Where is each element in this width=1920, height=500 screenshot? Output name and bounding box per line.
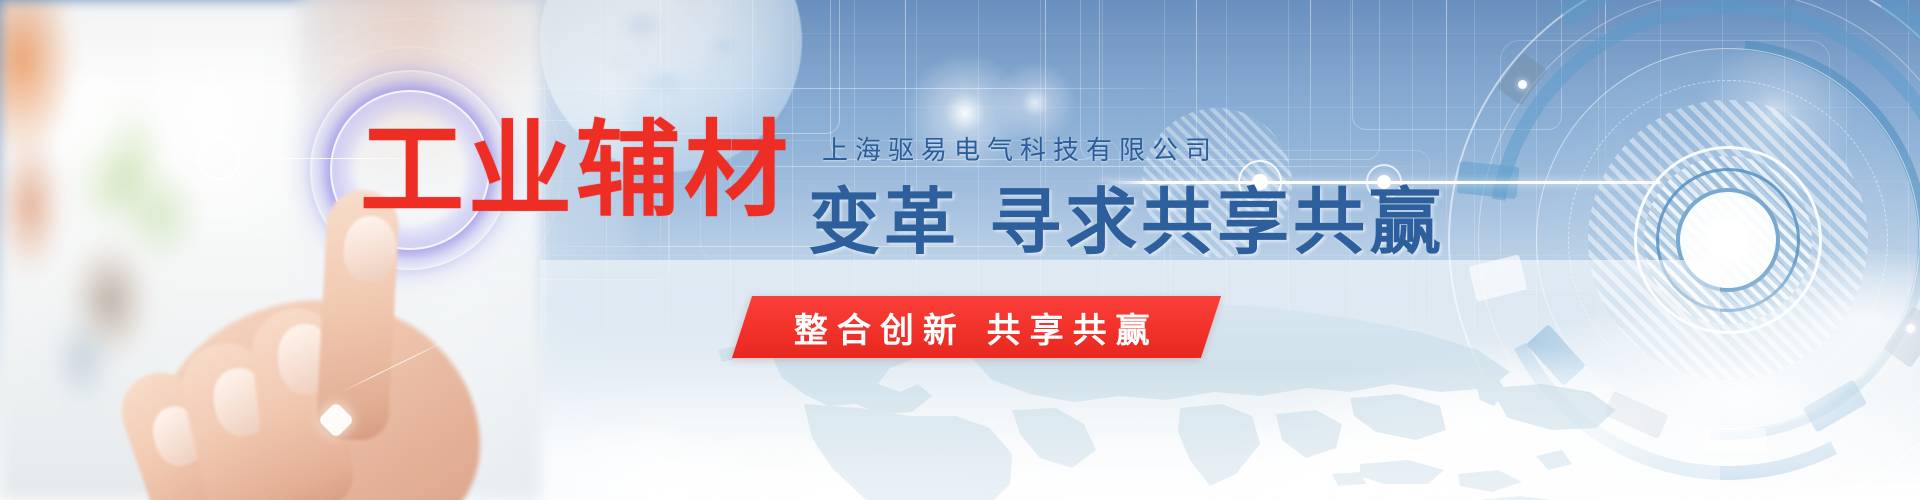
hero-banner: 工业辅材 上海驱易电气科技有限公司 变革 寻求共享共赢 整合创新 共享共赢 [0, 0, 1920, 500]
banner-subtitle: 变革 寻求共享共赢 [808, 186, 1445, 258]
hand-touching-interface [110, 200, 530, 500]
slogan-ribbon-text: 整合创新 共享共赢 [794, 303, 1159, 352]
slogan-ribbon: 整合创新 共享共赢 [732, 296, 1221, 358]
company-name: 上海驱易电气科技有限公司 [822, 138, 1218, 164]
hud-node-circle-icon [198, 138, 240, 180]
banner-headline: 工业辅材 [360, 118, 792, 222]
